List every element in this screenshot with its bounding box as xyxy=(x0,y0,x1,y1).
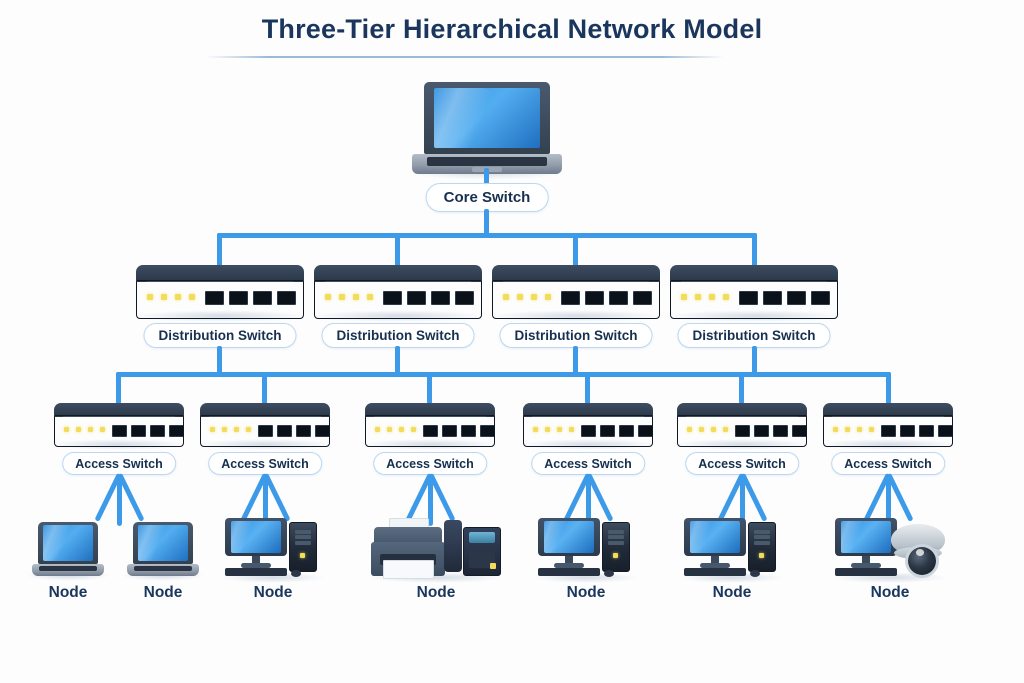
switch-face xyxy=(365,415,495,447)
monitor-screen-body xyxy=(538,518,600,556)
access-switch-device[interactable] xyxy=(823,403,953,445)
access-bus-wire xyxy=(116,372,891,377)
switch-face xyxy=(670,280,838,319)
switch-leds xyxy=(687,427,728,432)
monitor-screen xyxy=(231,521,282,552)
laptop-icon xyxy=(127,522,199,576)
laptop-lid xyxy=(133,522,193,564)
dome-camera-icon xyxy=(891,524,945,574)
switch-ports xyxy=(423,425,495,437)
laptop-keyboard xyxy=(39,566,97,572)
switch-icon xyxy=(54,403,184,445)
switch-leds xyxy=(533,427,574,432)
access-feed-3 xyxy=(573,346,578,374)
switch-icon xyxy=(670,265,838,317)
switch-icon xyxy=(200,403,330,445)
switch-leds xyxy=(833,427,874,432)
printer-icon xyxy=(371,518,445,576)
node-device[interactable] xyxy=(127,522,199,576)
access-switch-device[interactable] xyxy=(523,403,653,445)
access-drop-6 xyxy=(886,372,891,404)
access-drop-5 xyxy=(739,372,744,404)
monitor-screen-body xyxy=(225,518,287,556)
laptop-screen xyxy=(43,525,94,560)
monitor-screen xyxy=(841,521,892,552)
switch-leds xyxy=(147,294,195,300)
node-label: Node xyxy=(713,584,752,602)
network-diagram-canvas: Three-Tier Hierarchical Network Model Co… xyxy=(0,0,1024,683)
node-label: Node xyxy=(49,584,88,602)
laptop-keyboard xyxy=(427,157,547,166)
distribution-switch-device[interactable] xyxy=(314,265,482,317)
switch-leds xyxy=(325,294,373,300)
distribution-switch-label[interactable]: Distribution Switch xyxy=(500,323,653,348)
laptop-keyboard xyxy=(134,566,192,572)
access-switch-device[interactable] xyxy=(54,403,184,445)
mouse-icon xyxy=(750,570,760,577)
switch-leds xyxy=(64,427,105,432)
access-switch-device[interactable] xyxy=(677,403,807,445)
access-switch-label[interactable]: Access Switch xyxy=(831,452,945,475)
switch-leds xyxy=(375,427,416,432)
node-device[interactable] xyxy=(32,522,104,576)
node-label: Node xyxy=(871,584,910,602)
phone-led xyxy=(490,563,496,569)
access-switch-label[interactable]: Access Switch xyxy=(531,452,645,475)
phone-body xyxy=(463,527,501,576)
distribution-bus-wire xyxy=(217,233,757,238)
access-switch-device[interactable] xyxy=(200,403,330,445)
distribution-switch-device[interactable] xyxy=(492,265,660,317)
access-switch-label[interactable]: Access Switch xyxy=(685,452,799,475)
switch-face xyxy=(677,415,807,447)
phone-handset xyxy=(444,520,462,572)
laptop-lid xyxy=(38,522,98,564)
node-device[interactable] xyxy=(835,516,945,578)
page-title: Three-Tier Hierarchical Network Model xyxy=(0,14,1024,45)
access-switch-label[interactable]: Access Switch xyxy=(208,452,322,475)
switch-face xyxy=(54,415,184,447)
laptop-screen xyxy=(138,525,189,560)
switch-ports xyxy=(205,291,296,305)
distribution-drop-4 xyxy=(752,233,757,267)
desktop-pc-icon xyxy=(538,518,600,568)
switch-leds xyxy=(503,294,551,300)
switch-icon xyxy=(823,403,953,445)
node-label: Node xyxy=(567,584,606,602)
switch-icon xyxy=(365,403,495,445)
switch-face xyxy=(523,415,653,447)
node-device[interactable] xyxy=(225,516,321,578)
core-switch-label[interactable]: Core Switch xyxy=(426,183,549,212)
tower-icon xyxy=(602,522,630,572)
access-drop-2 xyxy=(262,372,267,404)
access-feed-4 xyxy=(752,346,757,374)
keyboard-icon xyxy=(225,568,287,576)
monitor-screen-body xyxy=(684,518,746,556)
laptop-icon xyxy=(32,522,104,576)
switch-face xyxy=(492,280,660,319)
distribution-drop-1 xyxy=(217,233,222,267)
access-feed-1 xyxy=(217,346,222,374)
tower-icon xyxy=(748,522,776,572)
switch-icon xyxy=(314,265,482,317)
title-underline xyxy=(206,56,724,58)
core-drop-wire xyxy=(484,209,489,235)
distribution-switch-device[interactable] xyxy=(670,265,838,317)
mouse-icon xyxy=(604,570,614,577)
switch-ports xyxy=(881,425,953,437)
desktop-pc-icon xyxy=(684,518,746,568)
node-label: Node xyxy=(254,584,293,602)
desktop-pc-icon xyxy=(835,518,897,568)
switch-ports xyxy=(561,291,652,305)
laptop-screen xyxy=(434,88,540,149)
switch-face xyxy=(823,415,953,447)
access-switch-label[interactable]: Access Switch xyxy=(373,452,487,475)
printer-paper-out xyxy=(383,560,434,579)
switch-face xyxy=(200,415,330,447)
monitor-screen xyxy=(544,521,595,552)
node-device[interactable] xyxy=(538,516,634,578)
keyboard-icon xyxy=(835,568,897,576)
switch-ports xyxy=(258,425,330,437)
access-feed-2 xyxy=(395,346,400,374)
switch-icon xyxy=(492,265,660,317)
core-switch-device[interactable] xyxy=(412,82,562,174)
access-switch-device[interactable] xyxy=(365,403,495,445)
switch-face xyxy=(136,280,304,319)
node-device[interactable] xyxy=(371,514,501,578)
node-label: Node xyxy=(144,584,183,602)
node-device[interactable] xyxy=(684,516,780,578)
distribution-drop-2 xyxy=(395,233,400,267)
distribution-switch-label[interactable]: Distribution Switch xyxy=(322,323,475,348)
keyboard-icon xyxy=(684,568,746,576)
access-drop-1 xyxy=(116,372,121,404)
access-drop-4 xyxy=(585,372,590,404)
laptop-base xyxy=(127,564,199,576)
desktop-pc-icon xyxy=(225,518,287,568)
laptop-base xyxy=(32,564,104,576)
switch-icon xyxy=(523,403,653,445)
switch-ports xyxy=(112,425,184,437)
switch-face xyxy=(314,280,482,319)
phone-display xyxy=(469,532,495,543)
node-label: Node xyxy=(417,584,456,602)
switch-ports xyxy=(383,291,474,305)
switch-ports xyxy=(739,291,830,305)
switch-icon xyxy=(136,265,304,317)
distribution-switch-label[interactable]: Distribution Switch xyxy=(678,323,831,348)
switch-leds xyxy=(681,294,729,300)
switch-ports xyxy=(581,425,653,437)
laptop-icon xyxy=(412,82,562,174)
monitor-screen-body xyxy=(835,518,897,556)
ip-phone-icon xyxy=(447,520,501,576)
distribution-switch-device[interactable] xyxy=(136,265,304,317)
switch-leds xyxy=(210,427,251,432)
mouse-icon xyxy=(291,570,301,577)
access-switch-label[interactable]: Access Switch xyxy=(62,452,176,475)
distribution-switch-label[interactable]: Distribution Switch xyxy=(144,323,297,348)
distribution-drop-3 xyxy=(573,233,578,267)
switch-ports xyxy=(735,425,807,437)
switch-icon xyxy=(677,403,807,445)
monitor-screen xyxy=(690,521,741,552)
laptop-lid xyxy=(424,82,550,154)
access-drop-3 xyxy=(427,372,432,404)
tower-icon xyxy=(289,522,317,572)
keyboard-icon xyxy=(538,568,600,576)
